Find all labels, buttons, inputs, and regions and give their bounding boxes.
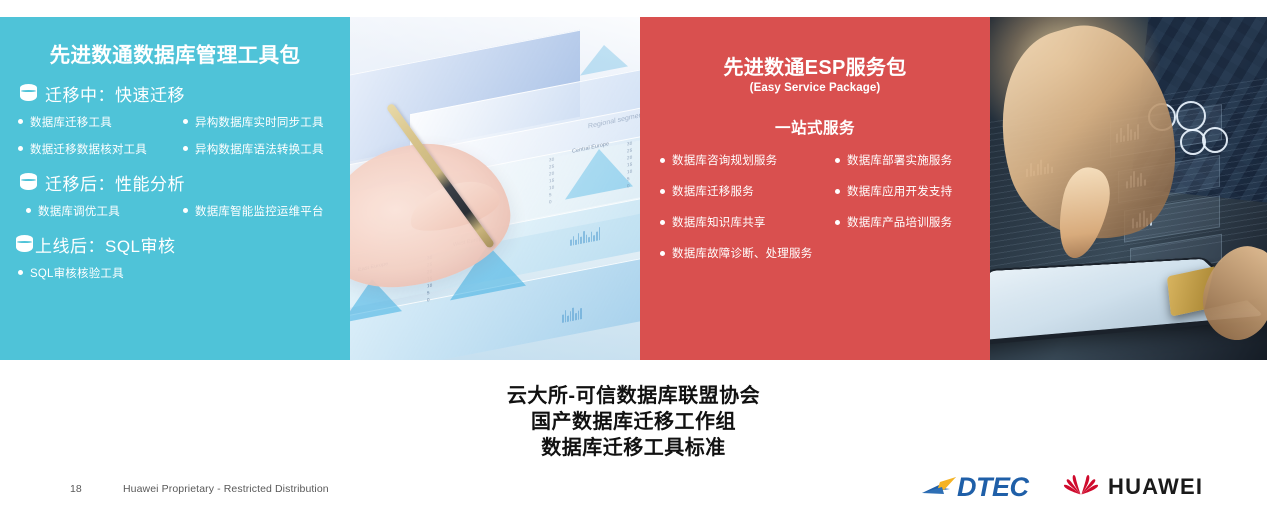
list-item-label: 数据库故障诊断、处理服务 — [672, 245, 812, 261]
panel-esp-service: 先进数通ESP服务包 (Easy Service Package) 一站式服务 … — [640, 17, 990, 360]
bullet-dot-icon — [835, 220, 840, 225]
list-item-label: 数据库知识库共享 — [672, 214, 766, 230]
bullet-dot-icon — [18, 119, 23, 124]
database-icon — [20, 173, 37, 192]
list-item: 数据库知识库共享 — [660, 214, 835, 230]
bullet-dot-icon — [660, 189, 665, 194]
page-number: 18 — [70, 483, 82, 495]
list-item: 异构数据库语法转换工具 — [183, 141, 363, 157]
list-item-label: 数据库产品培训服务 — [847, 214, 952, 230]
bullet-dot-icon — [183, 208, 188, 213]
dtec-arrow-icon — [920, 474, 960, 500]
bullet-dot-icon — [18, 270, 23, 275]
list-item-label: 数据库咨询规划服务 — [672, 152, 777, 168]
holo-ring-icon — [1202, 127, 1228, 153]
list-item: SQL审核核验工具 — [18, 265, 336, 281]
teal-bullet-group-1: 数据库迁移工具 异构数据库实时同步工具 数据迁移数据核对工具 异构数据库语法转换… — [18, 114, 336, 157]
holo-ring-icon — [1176, 101, 1206, 131]
photo-tablet-touch — [990, 17, 1267, 360]
dtec-logo: DTEC — [920, 472, 1029, 502]
dtec-wordmark: DTEC — [957, 474, 1029, 501]
red-bullet-group: 数据库咨询规划服务 数据库部署实施服务 数据库迁移服务 数据库应用开发支持 数据… — [660, 152, 976, 261]
panel-red-subtitle: (Easy Service Package) — [654, 82, 976, 94]
list-item-label: 数据库应用开发支持 — [847, 183, 952, 199]
huawei-wordmark: HUAWEI — [1108, 476, 1203, 498]
bullet-dot-icon — [660, 158, 665, 163]
list-item-label: 数据库智能监控运维平台 — [195, 203, 324, 219]
teal-section-heading-1: 迁移中：快速迁移 — [20, 81, 336, 106]
bullet-dot-icon — [18, 146, 23, 151]
teal-section-label-3: 上线后：SQL审核 — [35, 232, 176, 257]
bullet-dot-icon — [835, 158, 840, 163]
list-item: 数据库产品培训服务 — [835, 214, 1000, 230]
list-item: 异构数据库实时同步工具 — [183, 114, 363, 130]
list-item: 数据库应用开发支持 — [835, 183, 1000, 199]
list-item-label: 数据库部署实施服务 — [847, 152, 952, 168]
list-item: 数据库故障诊断、处理服务 — [660, 245, 1000, 261]
database-icon — [20, 84, 37, 103]
caption-line-3: 数据库迁移工具标准 — [0, 435, 1267, 461]
list-item-label: 数据库迁移服务 — [672, 183, 754, 199]
list-item-label: 数据库调优工具 — [38, 203, 120, 219]
teal-bullet-group-2: 数据库调优工具 数据库智能监控运维平台 — [18, 203, 336, 219]
bullet-dot-icon — [835, 189, 840, 194]
list-item: 数据库智能监控运维平台 — [183, 203, 363, 219]
teal-section-heading-3: 上线后：SQL审核 — [16, 232, 336, 257]
panel-teal-title: 先进数通数据库管理工具包 — [14, 45, 336, 68]
teal-section-label-2: 迁移后：性能分析 — [45, 170, 185, 195]
bullet-dot-icon — [26, 208, 31, 213]
list-item: 数据库咨询规划服务 — [660, 152, 835, 168]
teal-section-label-1: 迁移中：快速迁移 — [45, 81, 185, 106]
panel-database-toolkit: 先进数通数据库管理工具包 迁移中：快速迁移 数据库迁移工具 异构数据库实时同步工… — [0, 17, 350, 360]
banner-row: 先进数通数据库管理工具包 迁移中：快速迁移 数据库迁移工具 异构数据库实时同步工… — [0, 17, 1267, 360]
panel-red-section-heading: 一站式服务 — [654, 116, 976, 138]
database-icon — [16, 235, 33, 254]
bullet-dot-icon — [660, 220, 665, 225]
bullet-dot-icon — [183, 119, 188, 124]
bullet-dot-icon — [183, 146, 188, 151]
list-item-label: SQL审核核验工具 — [30, 265, 124, 281]
bullet-dot-icon — [660, 251, 665, 256]
list-item: 数据库迁移工具 — [18, 114, 183, 130]
caption-line-2: 国产数据库迁移工作组 — [0, 409, 1267, 435]
list-item-label: 异构数据库实时同步工具 — [195, 114, 324, 130]
huawei-flower-icon — [1063, 474, 1099, 500]
teal-bullet-group-3: SQL审核核验工具 — [18, 265, 336, 281]
list-item: 数据迁移数据核对工具 — [18, 141, 183, 157]
list-item: 数据库迁移服务 — [660, 183, 835, 199]
huawei-logo: HUAWEI — [1063, 472, 1203, 502]
list-item-label: 数据库迁移工具 — [30, 114, 112, 130]
confidentiality-note: Huawei Proprietary - Restricted Distribu… — [123, 483, 329, 495]
caption-block: 云大所-可信数据库联盟协会 国产数据库迁移工作组 数据库迁移工具标准 — [0, 383, 1267, 461]
panel-red-title: 先进数通ESP服务包 — [654, 51, 976, 80]
slide-canvas: 先进数通数据库管理工具包 迁移中：快速迁移 数据库迁移工具 异构数据库实时同步工… — [0, 0, 1267, 510]
caption-line-1: 云大所-可信数据库联盟协会 — [0, 383, 1267, 409]
list-item: 数据库部署实施服务 — [835, 152, 1000, 168]
teal-section-heading-2: 迁移后：性能分析 — [20, 170, 336, 195]
photo-business-charts: Regional segments Central Europe West Eu… — [350, 17, 640, 360]
list-item: 数据库调优工具 — [26, 203, 183, 219]
list-item-label: 异构数据库语法转换工具 — [195, 141, 324, 157]
list-item-label: 数据迁移数据核对工具 — [30, 141, 147, 157]
